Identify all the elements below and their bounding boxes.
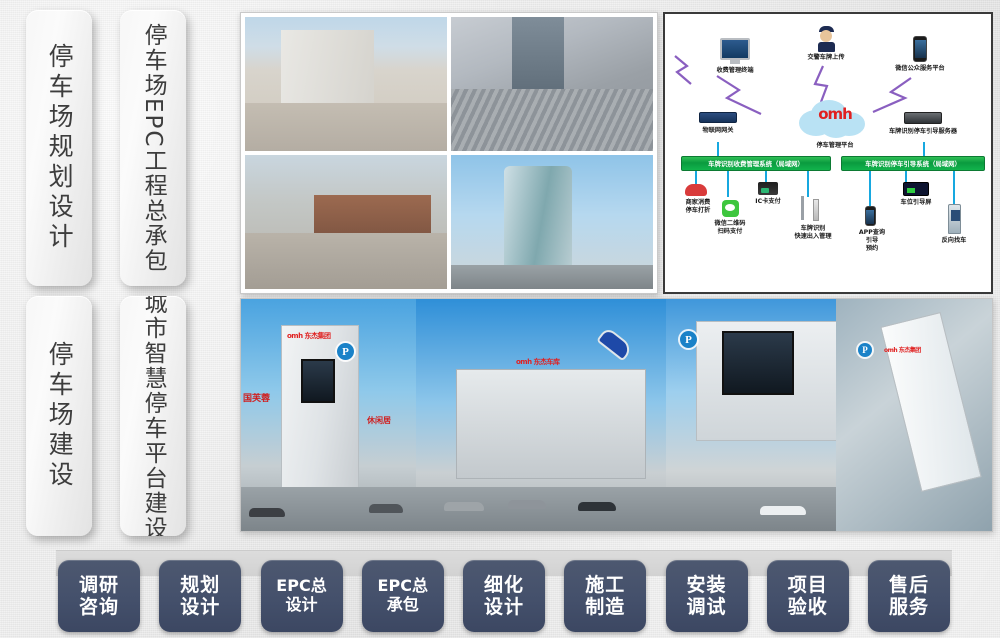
process-step-epc-contract[interactable]: EPC总 承包 [362, 560, 444, 632]
smartphone-icon [913, 36, 927, 62]
process-step-detail-design[interactable]: 细化 设计 [463, 560, 545, 632]
node-iot-gateway[interactable]: 物联网网关 [679, 112, 757, 135]
connector-gateway-down [717, 142, 719, 156]
node-traffic-police[interactable]: 交警车牌上传 [789, 26, 863, 62]
step-label-line2: 调试 [686, 596, 726, 618]
omh-brand-badge: omh 东杰车库 [516, 357, 560, 367]
monitor-stand-icon [730, 60, 740, 64]
sidebar-card-label: 城市智慧停车平台建设 [141, 296, 165, 536]
omh-brand-badge: omh 东杰集团 [287, 331, 331, 341]
cloud-platform-label: 停车管理平台 [775, 142, 895, 150]
step-label-line1: EPC总 [378, 577, 428, 596]
connector-app [869, 171, 871, 207]
garage-building [456, 369, 646, 479]
sidebar-card-planning-design[interactable]: 停车场规划设计 [26, 10, 92, 286]
sidebar: 停车场规划设计 停车场EPC工程总承包 停车场建设 城市智慧停车平台建设 [0, 0, 232, 545]
process-step-after-sales[interactable]: 售后 服务 [868, 560, 950, 632]
aerial-tower-building [880, 312, 981, 492]
child-reverse-find[interactable]: 反向找车 [933, 204, 975, 245]
bolt-edge-left [675, 56, 691, 84]
parked-car [508, 500, 546, 509]
child-reverse-find-label: 反向找车 [933, 237, 975, 245]
process-step-epc-design[interactable]: EPC总 设计 [261, 560, 343, 632]
parked-car [760, 506, 806, 515]
sidebar-card-label: 停车场建设 [46, 341, 72, 491]
step-label-line1: 规划 [180, 574, 220, 596]
bolt-to-wechat [873, 78, 911, 112]
slide-root: 停车场规划设计 停车场EPC工程总承包 停车场建设 城市智慧停车平台建设 [0, 0, 1000, 638]
step-label-line2: 咨询 [79, 596, 119, 618]
step-label-line1: 安装 [686, 574, 726, 596]
render-billboard: P [666, 299, 836, 531]
render-aerial-tower: P omh 东杰集团 [836, 299, 992, 531]
architectural-renderings: omh 东杰集团 P 国芙蓉 休闲居 omh 东杰车库 P [240, 298, 993, 532]
parking-sign-icon: P [858, 343, 872, 357]
bolt-to-charge-terminal [717, 76, 761, 114]
process-step-project-accept[interactable]: 项目 验收 [767, 560, 849, 632]
parking-site-photos [240, 12, 658, 294]
street-sign-1: 国芙蓉 [243, 391, 270, 404]
barrier-gate-icon [789, 196, 837, 222]
police-officer-icon [789, 26, 863, 52]
street-foreground [666, 487, 836, 531]
sidebar-card-label: 停车场EPC工程总承包 [141, 23, 165, 273]
monitor-icon [720, 38, 750, 60]
sidebar-card-epc-contracting[interactable]: 停车场EPC工程总承包 [120, 10, 186, 286]
node-wechat-platform-label: 微信公众服务平台 [877, 65, 963, 73]
omh-logo: omh [811, 105, 859, 123]
photo-brick-lot [245, 155, 447, 289]
step-label-line1: EPC总 [276, 577, 326, 596]
bolt-to-police [815, 66, 827, 102]
step-label-line2: 制造 [585, 596, 625, 618]
app-phone-icon [865, 206, 876, 226]
server-icon [904, 112, 942, 124]
sidebar-card-smart-platform[interactable]: 城市智慧停车平台建设 [120, 296, 186, 536]
connector-merchant [695, 171, 697, 185]
connector-kiosk [953, 171, 955, 205]
street-sign-2: 休闲居 [367, 415, 391, 426]
gateway-icon [699, 112, 737, 123]
parked-car [369, 504, 403, 513]
child-ic-card-label: IC卡支付 [747, 198, 789, 206]
wechat-icon [722, 200, 739, 217]
node-guidance-server-label: 车牌识别停车引导服务器 [875, 128, 971, 136]
sidebar-card-label: 停车场规划设计 [46, 43, 72, 253]
process-bar: 调研 咨询 规划 设计 EPC总 设计 EPC总 承包 细化 设计 施工 制造 … [58, 560, 950, 632]
connector-server-down [923, 142, 925, 156]
step-label-line2: 验收 [788, 596, 828, 618]
node-guidance-server[interactable]: 车牌识别停车引导服务器 [875, 112, 971, 136]
step-label-line2: 设计 [285, 596, 317, 615]
photo-street-lot [245, 17, 447, 151]
cloud-platform-label-node: 停车管理平台 [775, 142, 895, 150]
node-iot-gateway-label: 物联网网关 [679, 127, 757, 135]
process-step-planning-design[interactable]: 规划 设计 [159, 560, 241, 632]
node-wechat-platform[interactable]: 微信公众服务平台 [877, 36, 963, 73]
step-label-line2: 承包 [387, 596, 419, 615]
process-step-construct-mfg[interactable]: 施工 制造 [564, 560, 646, 632]
parked-car [578, 502, 616, 511]
process-step-install-debug[interactable]: 安装 调试 [666, 560, 748, 632]
node-traffic-police-label: 交警车牌上传 [789, 54, 863, 62]
child-ic-card-pay[interactable]: IC卡支付 [747, 182, 789, 206]
lifted-car-graphic [596, 326, 634, 361]
step-label-line1: 项目 [788, 574, 828, 596]
node-charge-terminal[interactable]: 收费管理终端 [697, 38, 773, 75]
step-label-line2: 设计 [180, 596, 220, 618]
photo-glass-tower [451, 155, 653, 289]
child-app-booking[interactable]: APP查询引导预约 [849, 206, 891, 252]
parking-sign-icon: P [337, 343, 354, 360]
red-car-icon [685, 184, 707, 196]
system-architecture-diagram: omh 停车管理平台 收费管理终端 交警车牌上传 微信公众服务平台 [663, 12, 993, 294]
bank-card-icon [758, 182, 778, 195]
led-sign-icon [903, 182, 929, 196]
sidebar-card-parking-construction[interactable]: 停车场建设 [26, 296, 92, 536]
step-label-line1: 调研 [79, 574, 119, 596]
step-label-line1: 细化 [484, 574, 524, 596]
connector-plate-gate [807, 171, 809, 197]
billboard-display [301, 359, 335, 403]
step-label-line2: 设计 [484, 596, 524, 618]
system-box-guidance[interactable]: 车牌识别停车引导系统（局域网） [841, 156, 985, 171]
step-label-line1: 施工 [585, 574, 625, 596]
cloud-platform-icon: omh [797, 100, 873, 140]
render-multi-storey: omh 东杰车库 [416, 299, 666, 531]
process-step-survey-consult[interactable]: 调研 咨询 [58, 560, 140, 632]
render-tower-garage: omh 东杰集团 P 国芙蓉 休闲居 [241, 299, 416, 531]
omh-brand-badge: omh 东杰集团 [884, 345, 921, 354]
photo-aerial-lot [451, 17, 653, 151]
connector-wechat-pay [727, 171, 729, 197]
node-charge-terminal-label: 收费管理终端 [697, 67, 773, 75]
kiosk-icon [948, 204, 961, 234]
child-plate-gate[interactable]: 车牌识别快速出入管理 [789, 196, 837, 241]
step-label-line1: 售后 [889, 574, 929, 596]
billboard-display [722, 331, 794, 395]
parking-sign-icon: P [680, 331, 697, 348]
parked-car [249, 508, 285, 517]
parked-car [444, 502, 484, 511]
step-label-line2: 服务 [889, 596, 929, 618]
system-box-charge[interactable]: 车牌识别收费管理系统（局域网） [681, 156, 831, 171]
